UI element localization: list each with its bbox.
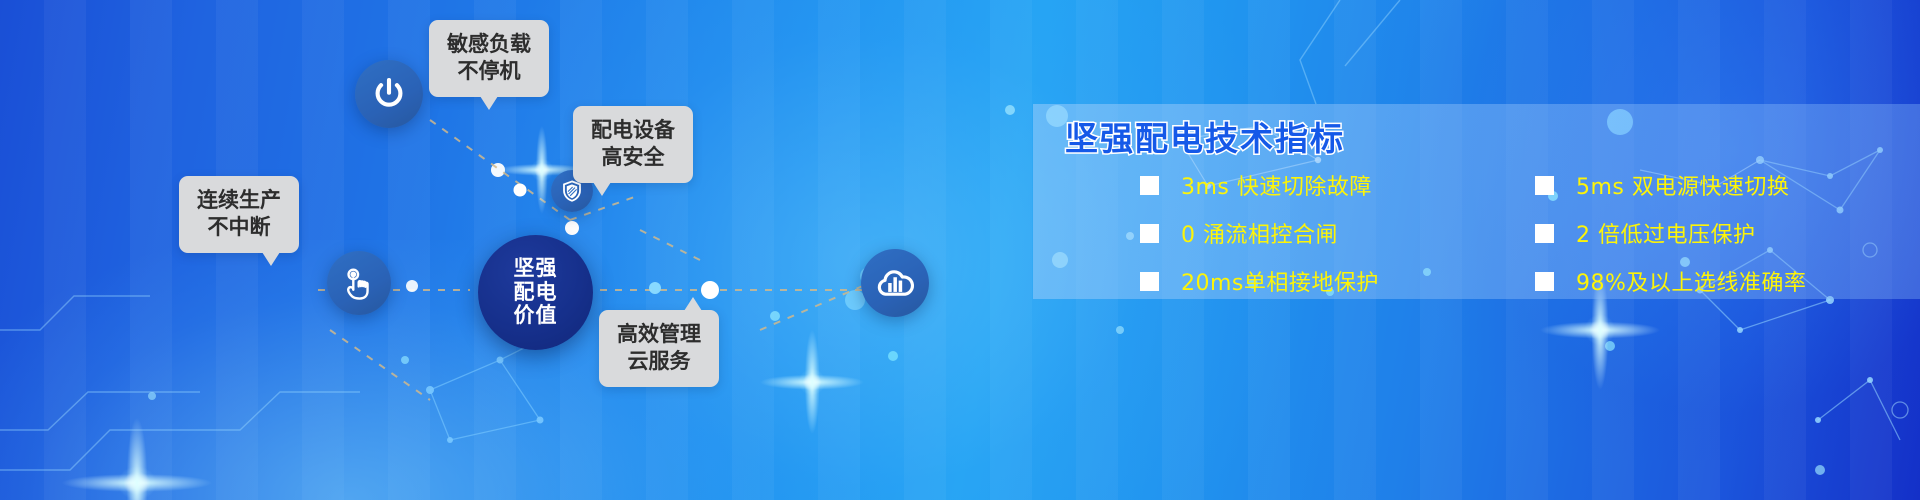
bullet-square-icon [1535, 272, 1554, 291]
power-icon [370, 75, 408, 113]
callout-sensitive-load-line-1: 敏感负载 [447, 31, 531, 58]
callout-cloud-management[interactable]: 高效管理 云服务 [599, 310, 719, 387]
metric-label: 20ms单相接地保护 [1181, 265, 1379, 297]
metric-item[interactable]: 20ms单相接地保护 [1140, 266, 1485, 296]
bullet-square-icon [1140, 272, 1159, 291]
callout-power-equipment-line-2: 高安全 [591, 144, 675, 171]
metric-label: 0 涌流相控合闸 [1181, 217, 1338, 249]
metric-label: 98%及以上选线准确率 [1576, 265, 1806, 297]
node-power[interactable] [355, 60, 423, 128]
sparkle-star-left [62, 418, 212, 500]
metrics-title: 坚强配电技术指标 [1065, 112, 1345, 160]
core-value-line-1: 坚强 [514, 257, 558, 281]
callout-cloud-management-line-2: 云服务 [617, 348, 701, 375]
metric-item[interactable]: 2 倍低过电压保护 [1535, 218, 1880, 248]
promo-banner: 坚强 配电 价值 敏感负载 不停机 配电设备 高安全 连续生产 不中断 高效管理… [0, 0, 1920, 500]
core-value-line-3: 价值 [514, 304, 558, 328]
callout-tail [684, 297, 702, 311]
callout-tail [262, 252, 280, 266]
cloud-chart-icon [874, 262, 916, 304]
metric-item[interactable]: 5ms 双电源快速切换 [1535, 170, 1880, 200]
callout-power-equipment[interactable]: 配电设备 高安全 [573, 106, 693, 183]
callout-cloud-management-line-1: 高效管理 [617, 321, 701, 348]
bullet-square-icon [1140, 224, 1159, 243]
bullet-square-icon [1140, 176, 1159, 195]
callout-sensitive-load[interactable]: 敏感负载 不停机 [429, 20, 549, 97]
metric-item[interactable]: 3ms 快速切除故障 [1140, 170, 1485, 200]
callout-continuous-production[interactable]: 连续生产 不中断 [179, 176, 299, 253]
callout-tail [593, 182, 611, 196]
metric-label: 2 倍低过电压保护 [1576, 217, 1756, 249]
callout-power-equipment-line-1: 配电设备 [591, 117, 675, 144]
callout-sensitive-load-line-2: 不停机 [447, 58, 531, 85]
core-value-line-2: 配电 [514, 281, 558, 305]
metric-item[interactable]: 98%及以上选线准确率 [1535, 266, 1880, 296]
callout-continuous-production-line-1: 连续生产 [197, 187, 281, 214]
metric-label: 3ms 快速切除故障 [1181, 169, 1372, 201]
node-cloud-chart[interactable] [861, 249, 929, 317]
callout-continuous-production-line-2: 不中断 [197, 214, 281, 241]
bullet-square-icon [1535, 224, 1554, 243]
callout-tail [480, 96, 498, 110]
metrics-list: 3ms 快速切除故障 5ms 双电源快速切换 0 涌流相控合闸 2 倍低过电压保… [1140, 170, 1880, 296]
hand-tap-icon [340, 264, 378, 302]
metric-item[interactable]: 0 涌流相控合闸 [1140, 218, 1485, 248]
core-value-node[interactable]: 坚强 配电 价值 [478, 235, 593, 350]
node-hand-tap[interactable] [327, 251, 391, 315]
shield-icon [560, 179, 584, 203]
metric-label: 5ms 双电源快速切换 [1576, 169, 1789, 201]
sparkle-star-bottom [760, 330, 864, 434]
bullet-square-icon [1535, 176, 1554, 195]
